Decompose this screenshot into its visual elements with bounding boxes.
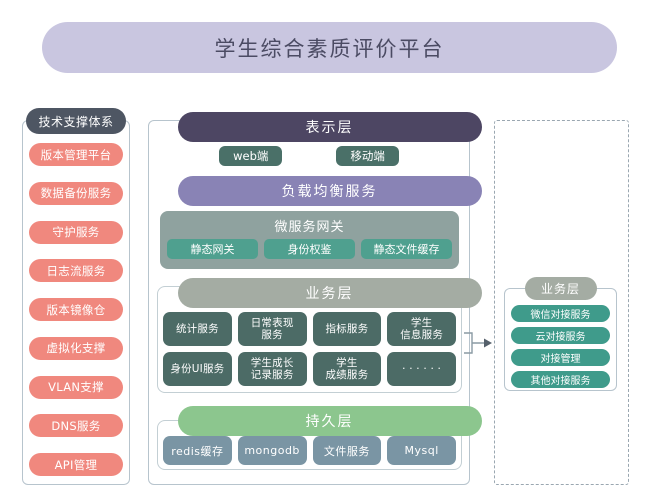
presentation-layer-items: web端 移动端 <box>160 145 458 167</box>
tech-support-panel: 技术支撑体系 版本管理平台 数据备份服务 守护服务 日志流服务 版本镜像仓 虚拟… <box>22 120 130 485</box>
microservice-gateway-title: 微服务网关 <box>160 216 459 235</box>
external-item[interactable]: 微信对接服务 <box>511 305 610 322</box>
presentation-item-mobile[interactable]: 移动端 <box>336 146 399 166</box>
sidebar-item[interactable]: 守护服务 <box>29 221 123 244</box>
business-item[interactable]: 学生成长 记录服务 <box>238 352 307 386</box>
sidebar-item[interactable]: 数据备份服务 <box>29 182 123 205</box>
microservice-gateway-block: 微服务网关 静态网关 身份权鉴 静态文件缓存 <box>160 211 459 269</box>
business-layer-grid: 统计服务 日常表现 服务 指标服务 学生 信息服务 身份UI服务 学生成长 记录… <box>163 312 456 386</box>
sidebar-item[interactable]: DNS服务 <box>29 414 123 437</box>
sidebar-item[interactable]: 虚拟化支撑 <box>29 337 123 360</box>
external-item[interactable]: 云对接服务 <box>511 327 610 344</box>
microservice-gateway-items: 静态网关 身份权鉴 静态文件缓存 <box>167 239 452 259</box>
gateway-item[interactable]: 静态文件缓存 <box>361 239 452 259</box>
business-item[interactable]: 日常表现 服务 <box>238 312 307 346</box>
gateway-item[interactable]: 静态网关 <box>167 239 258 259</box>
persistence-item[interactable]: mongodb <box>238 436 307 465</box>
sidebar-item[interactable]: 日志流服务 <box>29 259 123 282</box>
page-title: 学生综合素质评价平台 <box>215 33 445 63</box>
connector-arrow-icon <box>462 330 496 356</box>
business-layer-header: 业务层 <box>178 278 482 308</box>
external-item[interactable]: 对接管理 <box>511 349 610 366</box>
persistence-item[interactable]: Mysql <box>387 436 456 465</box>
tech-support-list: 版本管理平台 数据备份服务 守护服务 日志流服务 版本镜像仓 虚拟化支撑 VLA… <box>29 143 123 476</box>
external-item[interactable]: 其他对接服务 <box>511 371 610 388</box>
sidebar-item[interactable]: 版本管理平台 <box>29 143 123 166</box>
presentation-item-web[interactable]: web端 <box>219 146 282 166</box>
persistence-item[interactable]: redis缓存 <box>163 436 232 465</box>
persistence-layer-header: 持久层 <box>178 406 482 436</box>
sidebar-item[interactable]: 版本镜像仓 <box>29 298 123 321</box>
sidebar-item[interactable]: VLAN支撑 <box>29 376 123 399</box>
business-item[interactable]: 学生 信息服务 <box>387 312 456 346</box>
sidebar-item[interactable]: API管理 <box>29 453 123 476</box>
persistence-item[interactable]: 文件服务 <box>313 436 382 465</box>
external-business-layer-header: 业务层 <box>525 277 597 300</box>
load-balance-header: 负载均衡服务 <box>178 176 482 206</box>
gateway-item[interactable]: 身份权鉴 <box>264 239 355 259</box>
business-item[interactable]: 学生 成绩服务 <box>313 352 382 386</box>
business-item[interactable]: 统计服务 <box>163 312 232 346</box>
persistence-layer-items: redis缓存 mongodb 文件服务 Mysql <box>163 436 456 465</box>
business-item-more[interactable]: · · · · · · <box>387 352 456 386</box>
presentation-layer-header: 表示层 <box>178 112 482 142</box>
external-business-layer-list: 微信对接服务 云对接服务 对接管理 其他对接服务 <box>511 305 610 388</box>
external-business-layer-box: 业务层 微信对接服务 云对接服务 对接管理 其他对接服务 <box>504 288 617 391</box>
business-item[interactable]: 身份UI服务 <box>163 352 232 386</box>
page-title-banner: 学生综合素质评价平台 <box>42 22 617 73</box>
tech-support-header: 技术支撑体系 <box>26 108 126 134</box>
business-item[interactable]: 指标服务 <box>313 312 382 346</box>
